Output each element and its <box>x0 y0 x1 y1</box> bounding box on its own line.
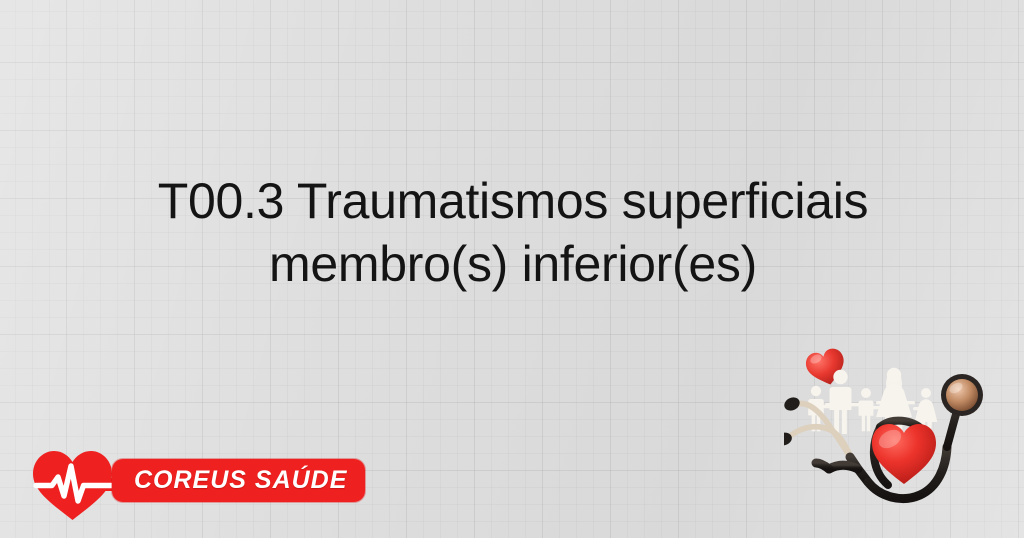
page-title-line-2: membro(s) inferior(es) <box>48 233 978 296</box>
medical-family-stethoscope-illustration <box>784 343 1024 538</box>
page-title: T00.3 Traumatismos superficiais membro(s… <box>48 170 978 296</box>
stethoscope-chestpiece-icon <box>941 374 983 416</box>
brand-logo[interactable]: COREUS SAÚDE <box>28 446 353 524</box>
heart-pulse-icon <box>28 446 122 524</box>
icd-code-banner: T00.3 Traumatismos superficiais membro(s… <box>0 0 1024 538</box>
brand-name-label: COREUS SAÚDE <box>134 466 347 495</box>
brand-name-badge: COREUS SAÚDE <box>112 459 365 502</box>
page-title-line-1: T00.3 Traumatismos superficiais <box>48 170 978 233</box>
